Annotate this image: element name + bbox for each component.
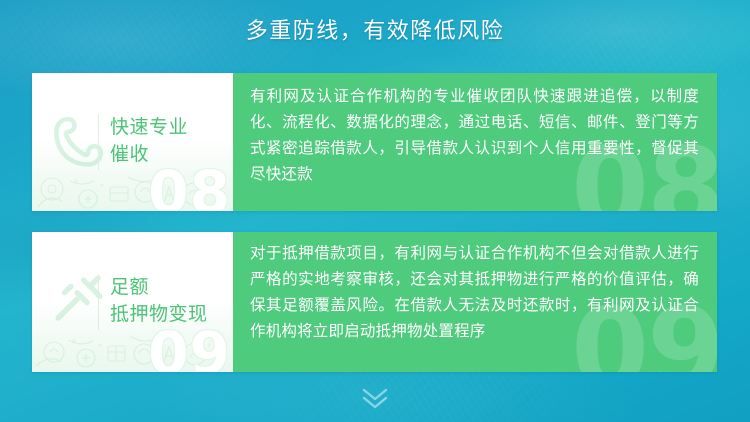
chevron-double-down-icon[interactable] xyxy=(355,385,395,409)
card-number-watermark-left: 08 xyxy=(148,163,231,211)
title-divider xyxy=(98,274,99,330)
card-header-panel: 快速专业 催收 08 xyxy=(32,73,233,211)
title-divider xyxy=(98,114,99,170)
feature-card: 快速专业 催收 08 08 有利网及认证合作机构的专业催收团队快速跟进追偿，以制… xyxy=(32,73,717,211)
page-title: 多重防线，有效降低风险 xyxy=(0,13,750,45)
slide-root: 多重防线，有效降低风险 xyxy=(0,0,750,422)
card-header-panel: 足额 抵押物变现 09 xyxy=(32,232,233,372)
card-title-line-1: 快速专业 xyxy=(110,114,188,141)
card-body-panel: 09 对于抵押借款项目，有利网与认证合作机构不但会对借款人进行严格的实地考察审核… xyxy=(233,232,717,372)
card-body-text: 对于抵押借款项目，有利网与认证合作机构不但会对借款人进行严格的实地考察审核，还会… xyxy=(233,232,717,355)
card-number-watermark-left: 09 xyxy=(148,324,231,372)
card-body-text: 有利网及认证合作机构的专业催收团队快速跟进追偿，以制度化、流程化、数据化的理念，… xyxy=(233,73,717,198)
phone-handset-icon xyxy=(50,112,108,170)
card-title-line-1: 足额 xyxy=(110,274,208,301)
gavel-icon xyxy=(50,272,108,330)
card-body-panel: 08 有利网及认证合作机构的专业催收团队快速跟进追偿，以制度化、流程化、数据化的… xyxy=(233,73,717,211)
feature-card: 足额 抵押物变现 09 09 对于抵押借款项目，有利网与认证合作机构不但会对借款… xyxy=(32,232,717,372)
